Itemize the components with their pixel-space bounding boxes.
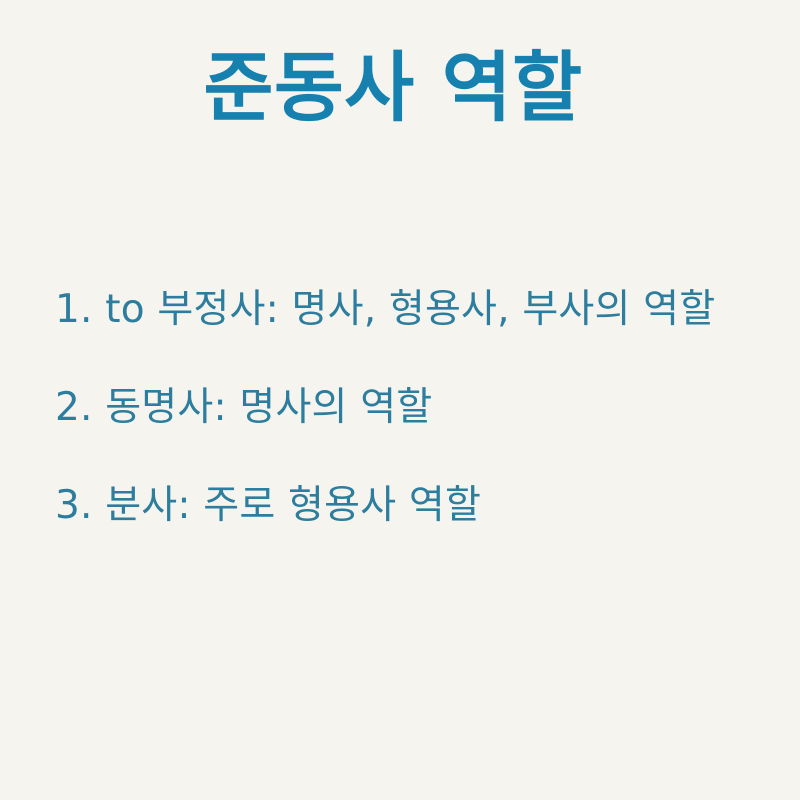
list-item: 1. to 부정사: 명사, 형용사, 부사의 역할 [55,287,755,333]
title-block: 준동사 역할 [0,48,786,127]
list-item: 3. 분사: 주로 형용사 역할 [55,483,755,529]
slide-canvas: 준동사 역할 1. to 부정사: 명사, 형용사, 부사의 역할 2. 동명사… [0,0,800,800]
page-title: 준동사 역할 [203,48,582,127]
role-list: 1. to 부정사: 명사, 형용사, 부사의 역할 2. 동명사: 명사의 역… [55,287,755,529]
list-item: 2. 동명사: 명사의 역할 [55,385,755,431]
